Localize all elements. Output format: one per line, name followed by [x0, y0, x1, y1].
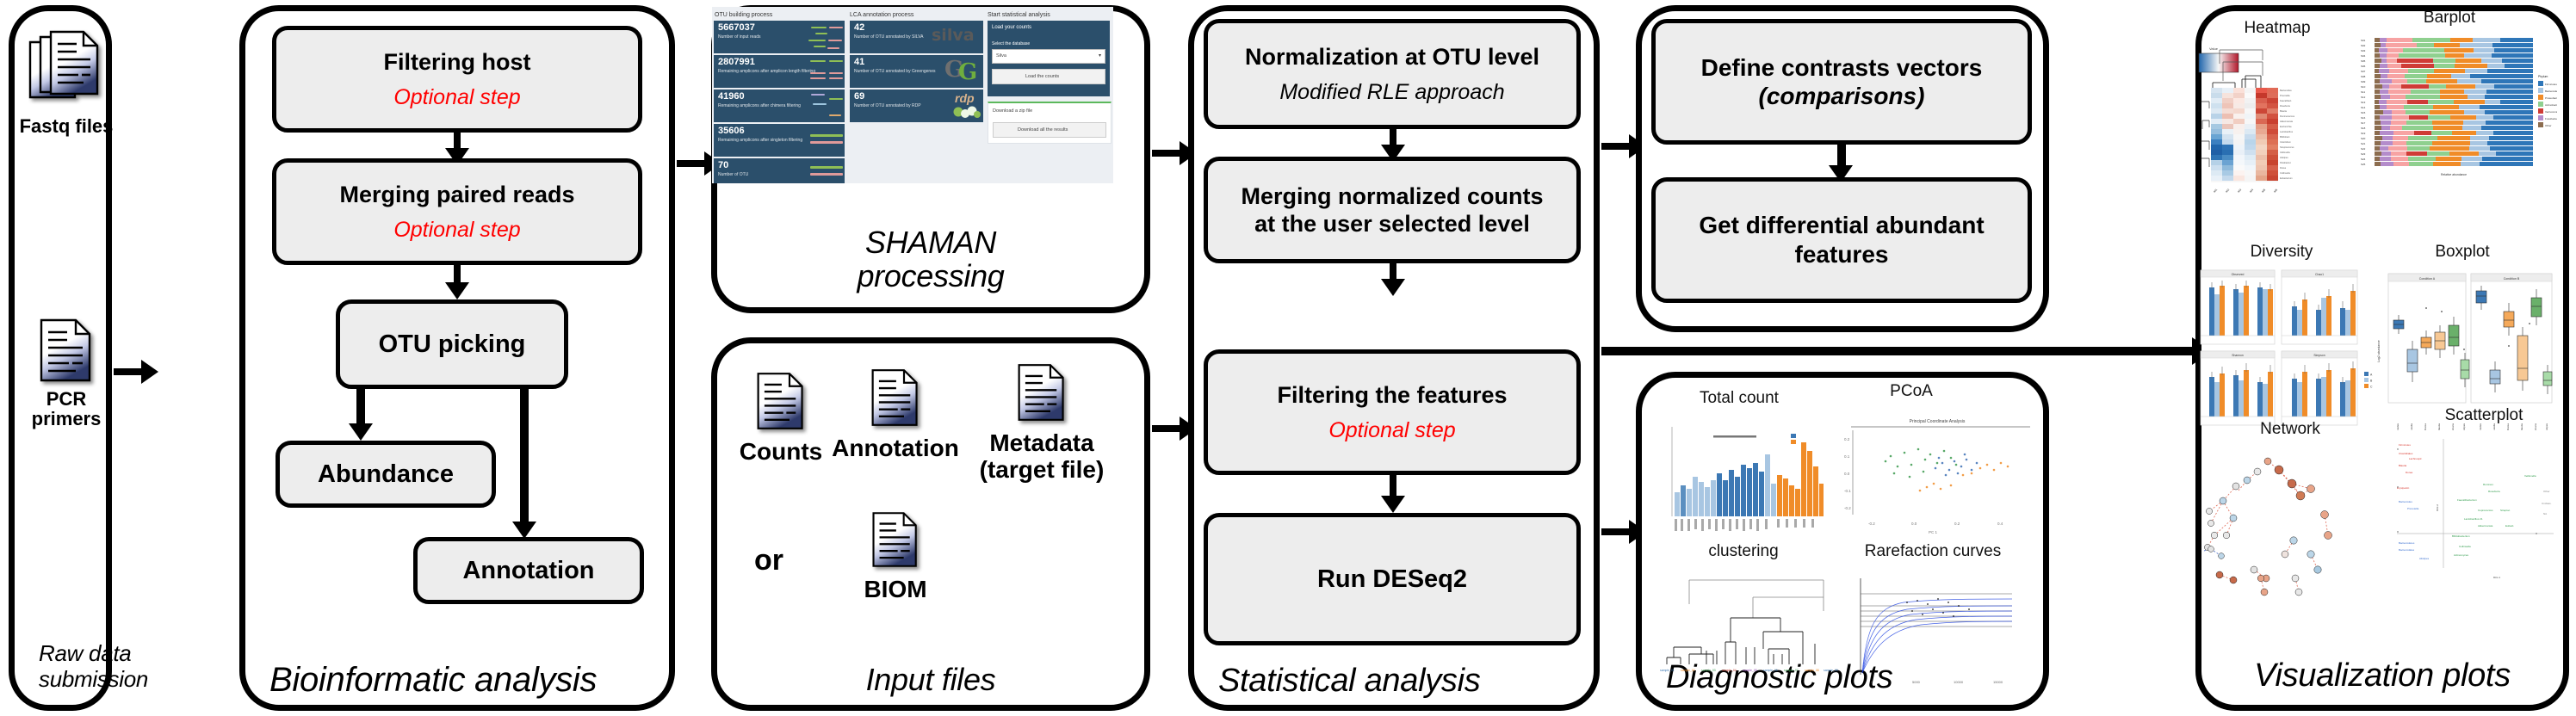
svg-text:Faecalibacterium: Faecalibacterium	[2457, 498, 2477, 502]
svg-text:Condition B: Condition B	[2504, 277, 2520, 281]
svg-text:Roseburia: Roseburia	[2280, 104, 2290, 108]
plot-title-pcoa: PCoA	[1860, 382, 1963, 401]
shaman-title-line1: SHAMAN	[865, 225, 996, 260]
shaman-tile-otu-1: 2807991 Remaining amplicons after amplic…	[714, 55, 845, 88]
svg-text:Other: Other	[2545, 124, 2552, 127]
svg-text:s06: s06	[2273, 188, 2278, 193]
arrow-raw-to-bioinformatic-head	[141, 360, 158, 384]
svg-text:NA: NA	[2543, 512, 2547, 515]
svg-text:Dim 1: Dim 1	[2493, 576, 2500, 579]
shaman-load-counts-button[interactable]: Load the counts	[992, 69, 1105, 84]
svg-text:sample_01: sample_01	[1660, 669, 1675, 672]
svg-text:S25: S25	[2361, 163, 2366, 166]
svg-text:Bacteroidetes: Bacteroidetes	[2545, 89, 2557, 93]
panel-raw-data-submission: Fastq files	[9, 5, 112, 711]
box-annotation-label: Annotation	[462, 557, 594, 584]
svg-text:Alistipes: Alistipes	[2280, 156, 2288, 159]
box-run-deseq2-label: Run DESeq2	[1317, 565, 1467, 593]
svg-text:S19: S19	[2361, 132, 2366, 135]
box-normalization-otu-level: Normalization at OTU level Modified RLE …	[1204, 19, 1581, 129]
box-normalization-otu-level-label: Normalization at OTU level	[1245, 44, 1539, 70]
svg-text:0.0: 0.0	[1911, 522, 1917, 526]
plot-clustering: sample_01sample_02 sample_03sample_04 sa…	[1651, 568, 1849, 680]
svg-text:Shannon: Shannon	[2232, 354, 2244, 357]
arrow-shaman-to-statistical	[1152, 150, 1181, 157]
svg-text:Chao1: Chao1	[2315, 273, 2324, 276]
svg-text:-0.2: -0.2	[1844, 506, 1851, 510]
pcr-primers-label-line1: PCR	[46, 388, 86, 410]
box-filtering-host: Filtering host Optional step	[272, 26, 642, 133]
box-get-differential-abundant-features: Get differential abundant features	[1651, 177, 2032, 303]
svg-text:Relative abundance: Relative abundance	[2441, 173, 2467, 176]
svg-text:Ruminoc.: Ruminoc.	[2483, 483, 2494, 486]
svg-text:S03: S03	[2361, 49, 2366, 52]
box-abundance: Abundance	[276, 441, 496, 508]
shaman-tile-otu-0: 5667037 Number of input reads	[714, 21, 845, 53]
shaman-load-counts-card: Load your counts Select the database Sil…	[988, 21, 1110, 96]
svg-text:Veillonella: Veillonella	[2280, 151, 2290, 154]
shaman-tile-otu-2-value: 41960	[718, 92, 745, 102]
svg-text:Eubact.: Eubact.	[2505, 524, 2514, 528]
svg-text:Lactobacillus 21: Lactobacillus 21	[2464, 517, 2483, 521]
svg-text:S18: S18	[2361, 127, 2366, 130]
svg-text:Prevotella: Prevotella	[2280, 94, 2290, 97]
svg-text:Observed: Observed	[2232, 273, 2245, 276]
silva-logo-icon: silva	[932, 28, 975, 44]
svg-text:Actinobacteria: Actinobacteria	[2545, 103, 2557, 107]
svg-text:0: 0	[1871, 680, 1873, 684]
shaman-col-title-lca: LCA annotation process	[850, 12, 913, 18]
svg-text:Faecalibact.: Faecalibact.	[2280, 99, 2292, 102]
arrow-filtering-to-deseq-head	[1381, 496, 1405, 513]
svg-text:S23: S23	[2361, 152, 2366, 156]
shaman-tile-lca-2-value: 69	[854, 92, 864, 102]
shaman-tile-otu-3-caption: Remaining amplicons after singleton filt…	[718, 139, 820, 144]
shaman-select-label: Select the database	[992, 41, 1030, 46]
svg-text:sample_07: sample_07	[1784, 669, 1799, 672]
svg-text:S14: S14	[2361, 106, 2366, 109]
svg-text:Eubacterium: Eubacterium	[2280, 176, 2293, 180]
box-otu-picking-label: OTU picking	[379, 330, 526, 358]
box-merging-normalized-counts-line1: Merging normalized counts	[1241, 182, 1543, 210]
shaman-database-select[interactable]: Silva ▾	[992, 49, 1105, 64]
svg-text:Bacteroidetes: Bacteroidetes	[2399, 541, 2415, 545]
arrow-statistical-to-contrasts	[1601, 143, 1631, 150]
svg-text:S20: S20	[2361, 137, 2366, 140]
svg-text:Collinsella: Collinsella	[2459, 545, 2471, 548]
workflow-diagram: Fastq files	[0, 0, 2576, 716]
panel-visualization-title: Visualization plots	[2201, 657, 2563, 694]
svg-text:sample_09: sample_09	[1824, 669, 1838, 672]
shaman-col-title-otu: OTU building process	[715, 12, 772, 18]
svg-text:Verrucomicr.: Verrucomicr.	[2545, 110, 2557, 114]
svg-text:Blautia: Blautia	[2399, 464, 2407, 467]
box-normalization-otu-level-sub: Modified RLE approach	[1279, 80, 1504, 104]
shaman-tile-lca-0: 42 Number of OTU annotated by SILVA silv…	[850, 21, 983, 53]
silva-tree-icon	[981, 22, 983, 43]
shaman-database-select-value: Silva	[996, 53, 1006, 59]
input-file-biom-label: BIOM	[864, 577, 926, 602]
svg-text:Dorea: Dorea	[2280, 166, 2287, 170]
plot-network	[2197, 439, 2369, 611]
svg-text:S22: S22	[2361, 147, 2366, 151]
shaman-tile-otu-3: 35606 Remaining amplicons after singleto…	[714, 124, 845, 157]
input-files-or-label: or	[754, 544, 783, 577]
svg-text:Firmicutes: Firmicutes	[2399, 443, 2411, 447]
svg-text:S05: S05	[2361, 59, 2366, 63]
svg-text:Condition A: Condition A	[2419, 277, 2436, 281]
svg-text:Prevotella: Prevotella	[2407, 507, 2419, 510]
raw-title-line1: Raw data	[39, 640, 131, 666]
rdp-leaf-icon	[953, 103, 981, 119]
box-annotation: Annotation	[413, 537, 644, 604]
svg-text:sample_03: sample_03	[1701, 669, 1716, 672]
svg-text:S24: S24	[2361, 157, 2366, 161]
svg-text:s05: s05	[2261, 188, 2266, 193]
svg-text:S16: S16	[2361, 116, 2366, 120]
svg-text:Dorea: Dorea	[2406, 471, 2413, 474]
svg-text:Bacteroides: Bacteroides	[2280, 89, 2292, 92]
svg-text:S17: S17	[2361, 121, 2366, 125]
svg-text:15000: 15000	[1993, 680, 2003, 684]
shaman-load-title: Load your counts	[992, 25, 1031, 30]
svg-text:Value: Value	[2209, 46, 2219, 51]
arrow-otu-to-annotation	[520, 387, 529, 528]
box-merging-paired-reads-label: Merging paired reads	[339, 182, 574, 207]
input-file-counts: Counts	[734, 370, 828, 464]
shaman-screenshot: OTU building process LCA annotation proc…	[712, 7, 1113, 183]
shaman-tile-lca-1-value: 41	[854, 58, 864, 67]
svg-text:Akkermansia: Akkermansia	[2478, 524, 2493, 528]
plot-title-network: Network	[2221, 420, 2359, 439]
svg-text:sample_05: sample_05	[1743, 669, 1757, 672]
svg-text:Phylum: Phylum	[2538, 75, 2548, 78]
box-filtering-host-sub: Optional step	[393, 85, 520, 109]
svg-text:S01: S01	[2361, 39, 2366, 42]
input-file-metadata-label: Metadata (target file)	[980, 430, 1105, 484]
svg-text:Fusobacteria: Fusobacteria	[2545, 117, 2557, 120]
plot-title-rarefaction: Rarefaction curves	[1834, 542, 2032, 561]
svg-text:Bacteroidales: Bacteroidales	[2399, 548, 2415, 552]
svg-text:Blautia: Blautia	[2280, 109, 2287, 113]
svg-text:Lachnospir.: Lachnospir.	[2409, 457, 2423, 460]
svg-text:s03: s03	[2237, 188, 2242, 193]
shaman-tile-lca-2: 69 Number of OTU annotated by RDP rdp	[850, 89, 983, 122]
svg-text:Akkermansia: Akkermansia	[2280, 120, 2294, 123]
document-icon	[38, 317, 95, 384]
shaman-tile-otu-0-value: 5667037	[718, 23, 755, 33]
svg-text:Simpson: Simpson	[2313, 354, 2325, 357]
shaman-download-button[interactable]: Download all the results	[993, 122, 1106, 138]
pcr-primers-item: PCR primers	[15, 317, 118, 429]
shaman-download-card: Download a zip file Download all the res…	[988, 102, 1112, 144]
input-file-metadata-label-line1: Metadata	[989, 429, 1093, 456]
svg-text:S13: S13	[2361, 101, 2366, 104]
document-icon	[870, 367, 921, 429]
arrow-statistical-to-visualization	[1601, 347, 2197, 355]
plot-title-diversity: Diversity	[2213, 243, 2350, 262]
pcr-primers-label-line2: primers	[32, 408, 102, 429]
shaman-tile-otu-3-value: 35606	[718, 127, 745, 136]
shaman-tile-otu-1-value: 2807991	[718, 58, 755, 67]
svg-text:S07: S07	[2361, 70, 2366, 73]
plot-title-total-count: Total count	[1662, 389, 1817, 408]
document-icon	[870, 509, 920, 570]
svg-text:Collinsella: Collinsella	[2280, 171, 2290, 175]
svg-text:Proteobacteria: Proteobacteria	[2545, 96, 2557, 100]
arrow-input-to-statistical	[1152, 425, 1181, 432]
svg-text:Other: Other	[2543, 490, 2550, 493]
box-merging-paired-reads-sub: Optional step	[393, 218, 520, 242]
svg-text:sample_04: sample_04	[1722, 669, 1737, 672]
svg-text:10000: 10000	[1954, 680, 1964, 684]
svg-text:S09: S09	[2361, 80, 2366, 83]
box-define-contrasts-vectors-sub: (comparisons)	[1759, 83, 1925, 109]
plot-title-clustering: clustering	[1666, 542, 1821, 561]
box-merging-normalized-counts: Merging normalized counts at the user se…	[1204, 157, 1581, 263]
svg-text:Streptoc.: Streptoc.	[2500, 509, 2511, 512]
plot-total-count	[1662, 423, 1825, 535]
svg-text:sample_02: sample_02	[1681, 669, 1695, 672]
svg-text:Bifidobact.: Bifidobact.	[2280, 135, 2290, 139]
arrow-otu-to-annotation-head	[512, 522, 536, 539]
svg-text:Ruminococcus: Ruminococcus	[2280, 114, 2295, 118]
box-otu-picking: OTU picking	[336, 299, 568, 389]
arrow-merging-to-filtering-head	[1381, 279, 1405, 296]
arrow-raw-to-bioinformatic	[114, 368, 143, 375]
svg-text:S15: S15	[2361, 111, 2366, 114]
svg-text:5000: 5000	[1912, 680, 1921, 684]
shaman-col-title-stats: Start statistical analysis	[988, 12, 1050, 18]
svg-text:S12: S12	[2361, 96, 2366, 99]
box-define-contrasts-vectors: Define contrasts vectors (comparisons)	[1651, 19, 2032, 145]
svg-text:S02: S02	[2361, 44, 2366, 47]
svg-text:S21: S21	[2361, 142, 2366, 145]
svg-text:PC 1: PC 1	[1929, 530, 1938, 534]
svg-text:s01: s01	[2213, 188, 2218, 193]
input-file-annotation-label: Annotation	[832, 435, 959, 460]
svg-text:Unclass.: Unclass.	[2542, 502, 2552, 505]
input-file-biom: BIOM	[844, 509, 947, 602]
shaman-tile-lca-1-caption: Number of OTU annotated by Greengenes	[854, 70, 958, 75]
svg-text:S04: S04	[2361, 54, 2366, 58]
chevron-down-icon: ▾	[1099, 52, 1101, 59]
svg-text:0.1: 0.1	[1844, 454, 1850, 459]
pcr-primers-label: PCR primers	[32, 389, 102, 429]
arrow-statistical-to-diagnostic	[1601, 528, 1631, 535]
svg-text:S10: S10	[2361, 85, 2366, 89]
shaman-title-line2: processing	[857, 258, 1004, 293]
svg-text:S11: S11	[2361, 90, 2365, 94]
plot-diversity: Observed Chao1	[2197, 267, 2361, 430]
plot-heatmap: Value	[2197, 38, 2361, 219]
svg-text:s04: s04	[2249, 188, 2254, 193]
svg-text:Clostridiales: Clostridiales	[2399, 452, 2413, 455]
svg-text:sample_08: sample_08	[1805, 669, 1819, 672]
shaman-tile-otu-2: 41960 Remaining amplicons after chimera …	[714, 89, 845, 122]
shaman-tile-lca-2-caption: Number of OTU annotated by RDP	[854, 104, 958, 109]
shaman-tile-otu-1-caption: Remaining amplicons after amplicon lengt…	[718, 70, 820, 75]
svg-text:Coprococcus: Coprococcus	[2478, 509, 2493, 512]
shaman-tile-otu-4: 70 Number of OTU	[714, 158, 845, 183]
box-get-differential-line2: features	[1795, 240, 1889, 269]
rdp-logo-icon: rdp	[955, 92, 975, 104]
svg-text:-0.1: -0.1	[1844, 489, 1851, 493]
svg-text:Log2 abundance: Log2 abundance	[2377, 340, 2381, 361]
shaman-download-title: Download a zip file	[993, 108, 1032, 114]
shaman-tile-otu-2-caption: Remaining amplicons after chimera filter…	[718, 104, 820, 109]
svg-text:Erysipelotr.: Erysipelotr.	[2397, 486, 2410, 490]
svg-text:-0.2: -0.2	[1868, 522, 1875, 526]
svg-text:0.2: 0.2	[1954, 522, 1960, 526]
box-filtering-features-label: Filtering the features	[1277, 382, 1507, 408]
box-filtering-host-label: Filtering host	[384, 49, 531, 75]
svg-text:Streptococcus: Streptococcus	[2280, 145, 2294, 149]
shaman-tile-otu-4-value: 70	[718, 161, 728, 170]
plot-title-boxplot: Boxplot	[2393, 243, 2531, 262]
svg-text:0.2: 0.2	[1844, 437, 1850, 441]
svg-text:s02: s02	[2225, 188, 2230, 193]
svg-text:S06: S06	[2361, 65, 2366, 68]
svg-text:Clostridium: Clostridium	[2280, 140, 2291, 144]
box-filtering-features: Filtering the features Optional step	[1204, 349, 1581, 475]
greengenes-logo-icon-2: G	[958, 61, 977, 83]
panel-bioinformatic-title: Bioinformatic analysis	[245, 661, 669, 700]
raw-title-line2: submission	[39, 666, 148, 692]
shaman-tile-lca-1: 41 Number of OTU annotated by Greengenes…	[850, 55, 983, 88]
box-get-differential-line1: Get differential abundant	[1699, 211, 1984, 240]
svg-text:Actinomyces: Actinomyces	[2454, 553, 2469, 557]
svg-text:sample_06: sample_06	[1763, 669, 1778, 672]
box-filtering-features-sub: Optional step	[1328, 418, 1455, 442]
plot-title-heatmap: Heatmap	[2213, 19, 2342, 38]
input-file-annotation: Annotation	[827, 367, 964, 460]
svg-text:S08: S08	[2361, 75, 2366, 78]
svg-text:Principal Coordinate Analysis: Principal Coordinate Analysis	[1910, 419, 1966, 424]
panel-shaman-title: SHAMAN processing	[717, 225, 1144, 293]
svg-text:0.4: 0.4	[1997, 522, 2003, 526]
plot-barplot: S01S02S03S04 S05S06S07S08 S09S10S11S12 S…	[2359, 33, 2557, 218]
panel-input-files-title: Input files	[717, 662, 1144, 698]
svg-text:Lactobacillus: Lactobacillus	[2280, 130, 2294, 133]
plot-rarefaction-curves: 050001000015000	[1855, 573, 2019, 685]
svg-text:Escherichia: Escherichia	[2280, 125, 2292, 128]
plot-scatterplot: FirmicutesClostridialesLachnospir. Blaut…	[2393, 430, 2557, 594]
shaman-tile-otu-0-caption: Number of input reads	[718, 35, 820, 40]
shaman-load-counts-button-label: Load the counts	[1025, 74, 1059, 79]
svg-text:Veillonella: Veillonella	[2524, 474, 2536, 478]
svg-text:Parabacter.: Parabacter.	[2280, 161, 2292, 164]
input-file-metadata: Metadata (target file)	[964, 361, 1119, 484]
panel-statistical-title: Statistical analysis	[1194, 663, 1594, 700]
svg-text:Roseburia: Roseburia	[2488, 490, 2500, 493]
svg-text:Bacteroides: Bacteroides	[2396, 423, 2400, 430]
document-icon	[755, 370, 807, 432]
arrow-otu-to-abundance-head	[349, 423, 373, 441]
fastq-files-label: Fastq files	[20, 116, 114, 136]
document-icon	[1016, 361, 1068, 423]
shaman-download-button-label: Download all the results	[1018, 127, 1068, 133]
shaman-tile-lca-0-value: 42	[854, 23, 864, 33]
box-abundance-label: Abundance	[318, 460, 454, 488]
input-file-counts-label: Counts	[740, 439, 822, 464]
svg-text:Firmicutes: Firmicutes	[2545, 83, 2557, 86]
plot-pcoa: Principal Coordinate Analysis	[1834, 411, 2032, 540]
arrow-merging-to-otu-head	[445, 282, 469, 299]
multiple-documents-icon	[27, 28, 106, 111]
plot-title-barplot: Barplot	[2385, 9, 2514, 28]
plot-title-scatterplot: Scatterplot	[2411, 406, 2557, 425]
svg-text:Bifidobacterium: Bifidobacterium	[2452, 534, 2470, 538]
box-merging-normalized-counts-line2: at the user selected level	[1254, 210, 1530, 238]
shaman-tile-otu-4-caption: Number of OTU	[718, 173, 820, 178]
box-define-contrasts-vectors-label: Define contrasts vectors	[1701, 54, 1983, 81]
box-run-deseq2: Run DESeq2	[1204, 513, 1581, 645]
svg-text:Dim 2: Dim 2	[2436, 504, 2439, 511]
svg-text:0.0: 0.0	[1844, 472, 1850, 476]
input-file-metadata-label-line2: (target file)	[980, 456, 1105, 483]
panel-raw-data-title: Raw data submission	[15, 641, 106, 693]
svg-text:Bacteroides: Bacteroides	[2399, 500, 2412, 503]
svg-text:Alistipes: Alistipes	[2419, 557, 2430, 560]
fastq-files-item: Fastq files	[15, 28, 118, 136]
box-merging-paired-reads: Merging paired reads Optional step	[272, 158, 642, 265]
